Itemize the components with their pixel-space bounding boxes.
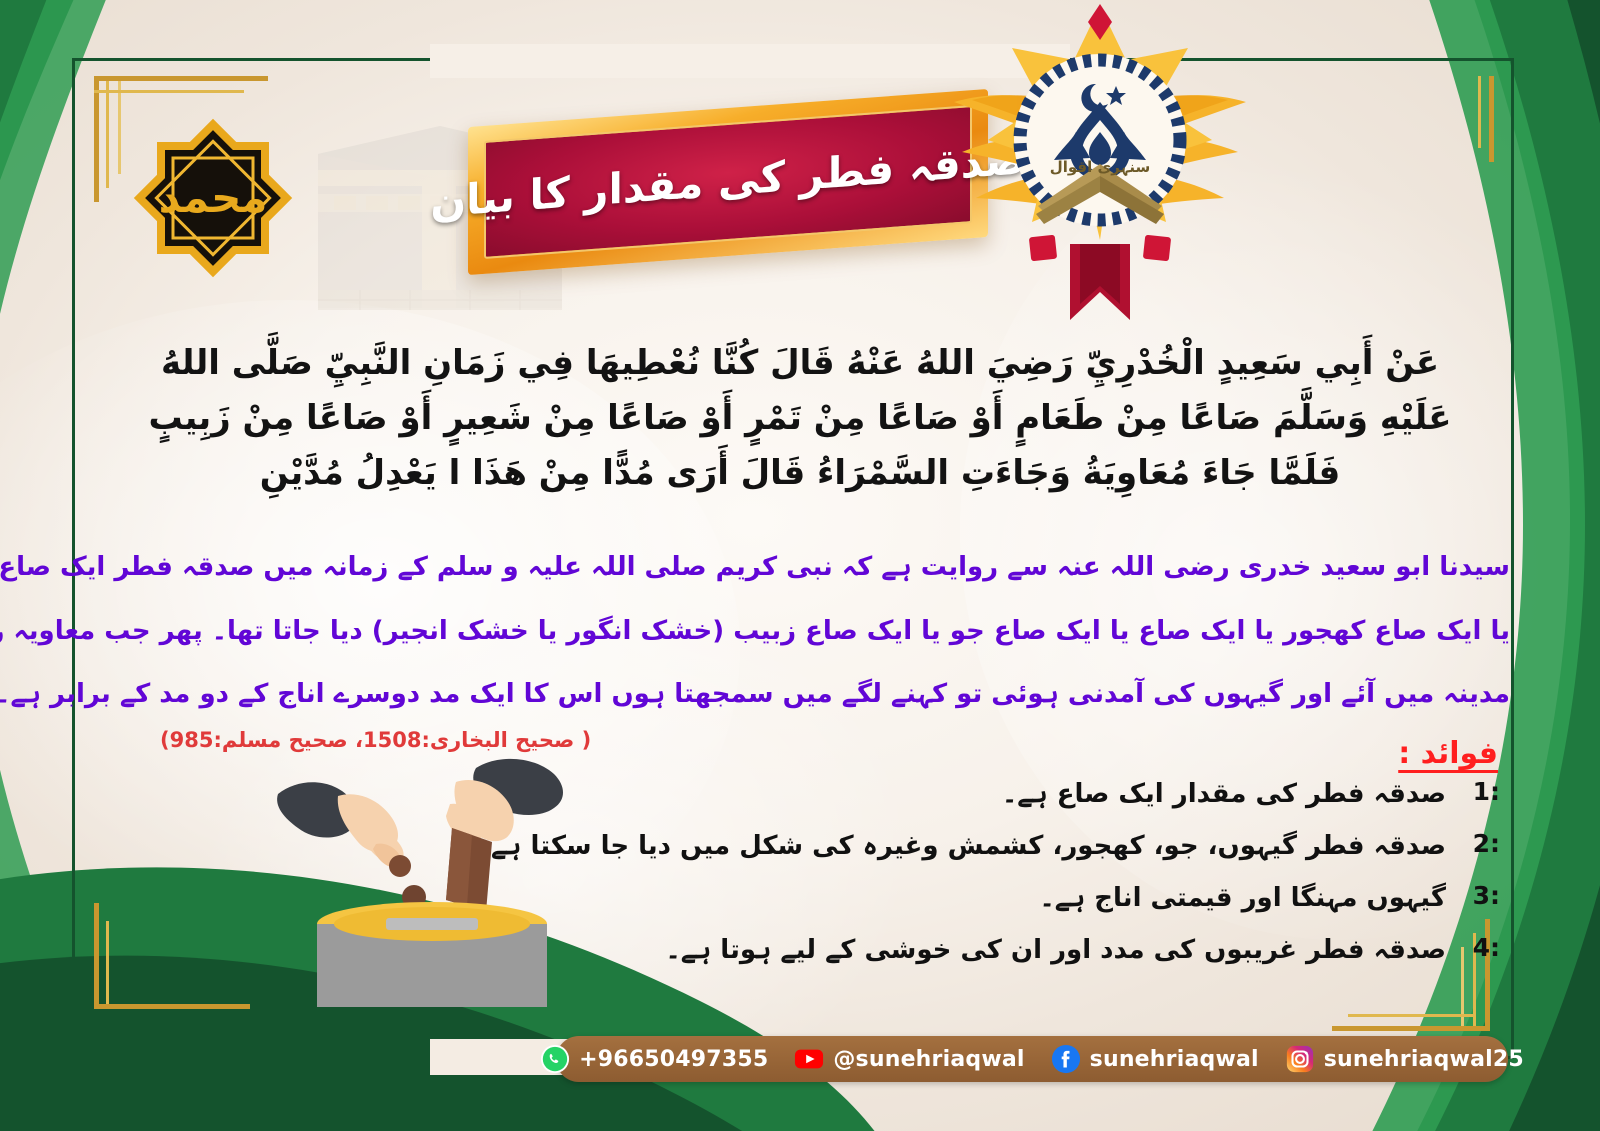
benefit-number: 4: — [1460, 933, 1500, 962]
social-item-youtube[interactable]: @sunehriaqwal — [781, 1044, 1037, 1074]
donation-box-illustration — [272, 752, 592, 1007]
benefit-number: 3: — [1460, 881, 1500, 910]
hadith-line: عَنْ أَبِي سَعِيدٍ الْخُدْرِيِّ رَضِيَ ا… — [90, 336, 1510, 391]
whatsapp-icon[interactable] — [540, 1044, 570, 1074]
benefit-text: گیہوں مہنگا اور قیمتی اناج ہے۔ — [1040, 881, 1446, 916]
translation-line: مدینہ میں آئے اور گیہوں کی آمدنی ہوئی تو… — [100, 663, 1510, 727]
medal-ribbon-tail — [1070, 244, 1130, 320]
donation-box-icon — [317, 902, 547, 1007]
left-hand-icon — [277, 782, 411, 877]
hadith-arabic-block: عَنْ أَبِي سَعِيدٍ الْخُدْرِيِّ رَضِيَ ا… — [90, 336, 1510, 501]
whatsapp-number: +96650497355 — [579, 1047, 768, 1072]
instagram-handle: sunehriaqwal25 — [1324, 1047, 1524, 1072]
facebook-handle: sunehriaqwal — [1090, 1047, 1259, 1072]
translation-line: سیدنا ابو سعید خدری رضی اللہ عنہ سے روای… — [100, 536, 1510, 600]
youtube-handle: @sunehriaqwal — [833, 1047, 1024, 1072]
title-ribbon: صدقہ فطر کی مقدار کا بیان — [468, 108, 988, 256]
hadith-line: فَلَمَّا جَاءَ مُعَاوِيَةُ وَجَاءَتِ الس… — [90, 446, 1510, 501]
muhammad-calligraphy-icon: محمد — [133, 118, 293, 278]
right-hand-icon — [446, 759, 563, 842]
svg-text:محمد: محمد — [159, 173, 268, 222]
hadith-line: عَلَيْهِ وَسَلَّمَ صَاعًا مِنْ طَعَامٍ أ… — [90, 391, 1510, 446]
benefit-text: صدقہ فطر کی مقدار ایک صاع ہے۔ — [1002, 777, 1446, 812]
organization-emblem: سنہری اقوال — [930, 0, 1270, 330]
benefit-text: صدقہ فطر غریبوں کی مدد اور ان کی خوشی کے… — [666, 933, 1446, 968]
social-item-instagram[interactable]: sunehriaqwal25 — [1272, 1044, 1537, 1074]
banknote-icon — [446, 828, 492, 912]
facebook-icon[interactable] — [1051, 1044, 1081, 1074]
gold-corner-bracket-top-right — [1376, 74, 1496, 164]
emblem-label: سنہری اقوال — [1050, 158, 1151, 177]
social-item-facebook[interactable]: sunehriaqwal — [1038, 1044, 1272, 1074]
youtube-icon[interactable] — [794, 1044, 824, 1074]
benefit-text: صدقہ فطر گیہوں، جو، کھجور، کشمش وغیرہ کی… — [476, 829, 1446, 864]
benefit-number: 1: — [1460, 777, 1500, 806]
translation-line: یا ایک صاع کھجور یا ایک صاع یا ایک صاع ج… — [100, 600, 1510, 664]
urdu-translation-block: سیدنا ابو سعید خدری رضی اللہ عنہ سے روای… — [100, 536, 1510, 727]
poster-root: محمد صدقہ فطر کی مقدار کا بیان — [0, 0, 1600, 1131]
social-item-whatsapp[interactable]: +96650497355 — [527, 1044, 781, 1074]
instagram-icon[interactable] — [1285, 1044, 1315, 1074]
gold-corner-bracket-bottom-left — [92, 901, 252, 1011]
footer-social-bar: +96650497355 @sunehriaqwal sunehriaqwal — [556, 1036, 1508, 1082]
benefit-number: 2: — [1460, 829, 1500, 858]
